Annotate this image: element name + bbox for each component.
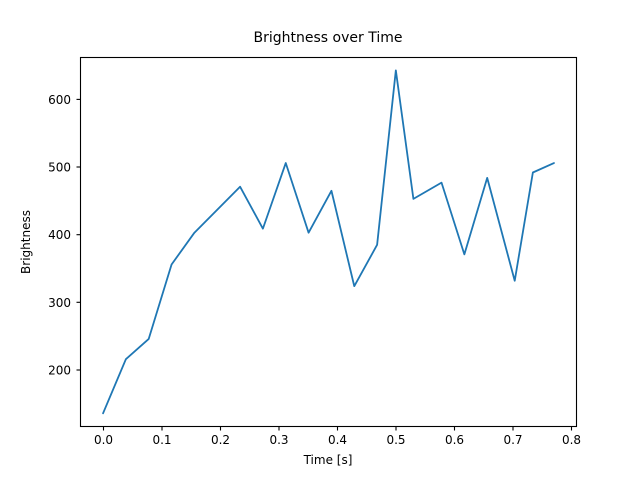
y-axis-label: Brightness — [19, 210, 33, 274]
x-tick-label: 0.3 — [269, 433, 288, 447]
x-axis-label: Time [s] — [303, 453, 353, 467]
y-tick-labels: 200 300 400 500 600 — [48, 93, 71, 378]
brightness-line — [103, 70, 554, 413]
y-tick-label: 200 — [48, 364, 71, 378]
chart-figure: Brightness over Time 0.0 0.1 0.2 0.3 0.4… — [0, 0, 640, 480]
y-tickmarks — [77, 99, 81, 370]
chart-canvas: Brightness over Time 0.0 0.1 0.2 0.3 0.4… — [0, 0, 640, 480]
x-tick-label: 0.4 — [328, 433, 347, 447]
x-tick-label: 0.7 — [503, 433, 522, 447]
y-tick-label: 600 — [48, 93, 71, 107]
x-tick-labels: 0.0 0.1 0.2 0.3 0.4 0.5 0.6 0.7 0.8 — [94, 433, 581, 447]
x-tick-label: 0.0 — [94, 433, 113, 447]
y-tick-label: 500 — [48, 161, 71, 175]
y-tick-label: 300 — [48, 296, 71, 310]
x-tick-label: 0.2 — [211, 433, 230, 447]
x-tick-label: 0.5 — [386, 433, 405, 447]
x-tick-label: 0.6 — [445, 433, 464, 447]
y-tick-label: 400 — [48, 228, 71, 242]
x-tick-label: 0.8 — [562, 433, 581, 447]
x-tickmarks — [104, 427, 572, 431]
chart-title: Brightness over Time — [254, 30, 403, 46]
x-tick-label: 0.1 — [152, 433, 171, 447]
plot-frame — [81, 58, 577, 427]
